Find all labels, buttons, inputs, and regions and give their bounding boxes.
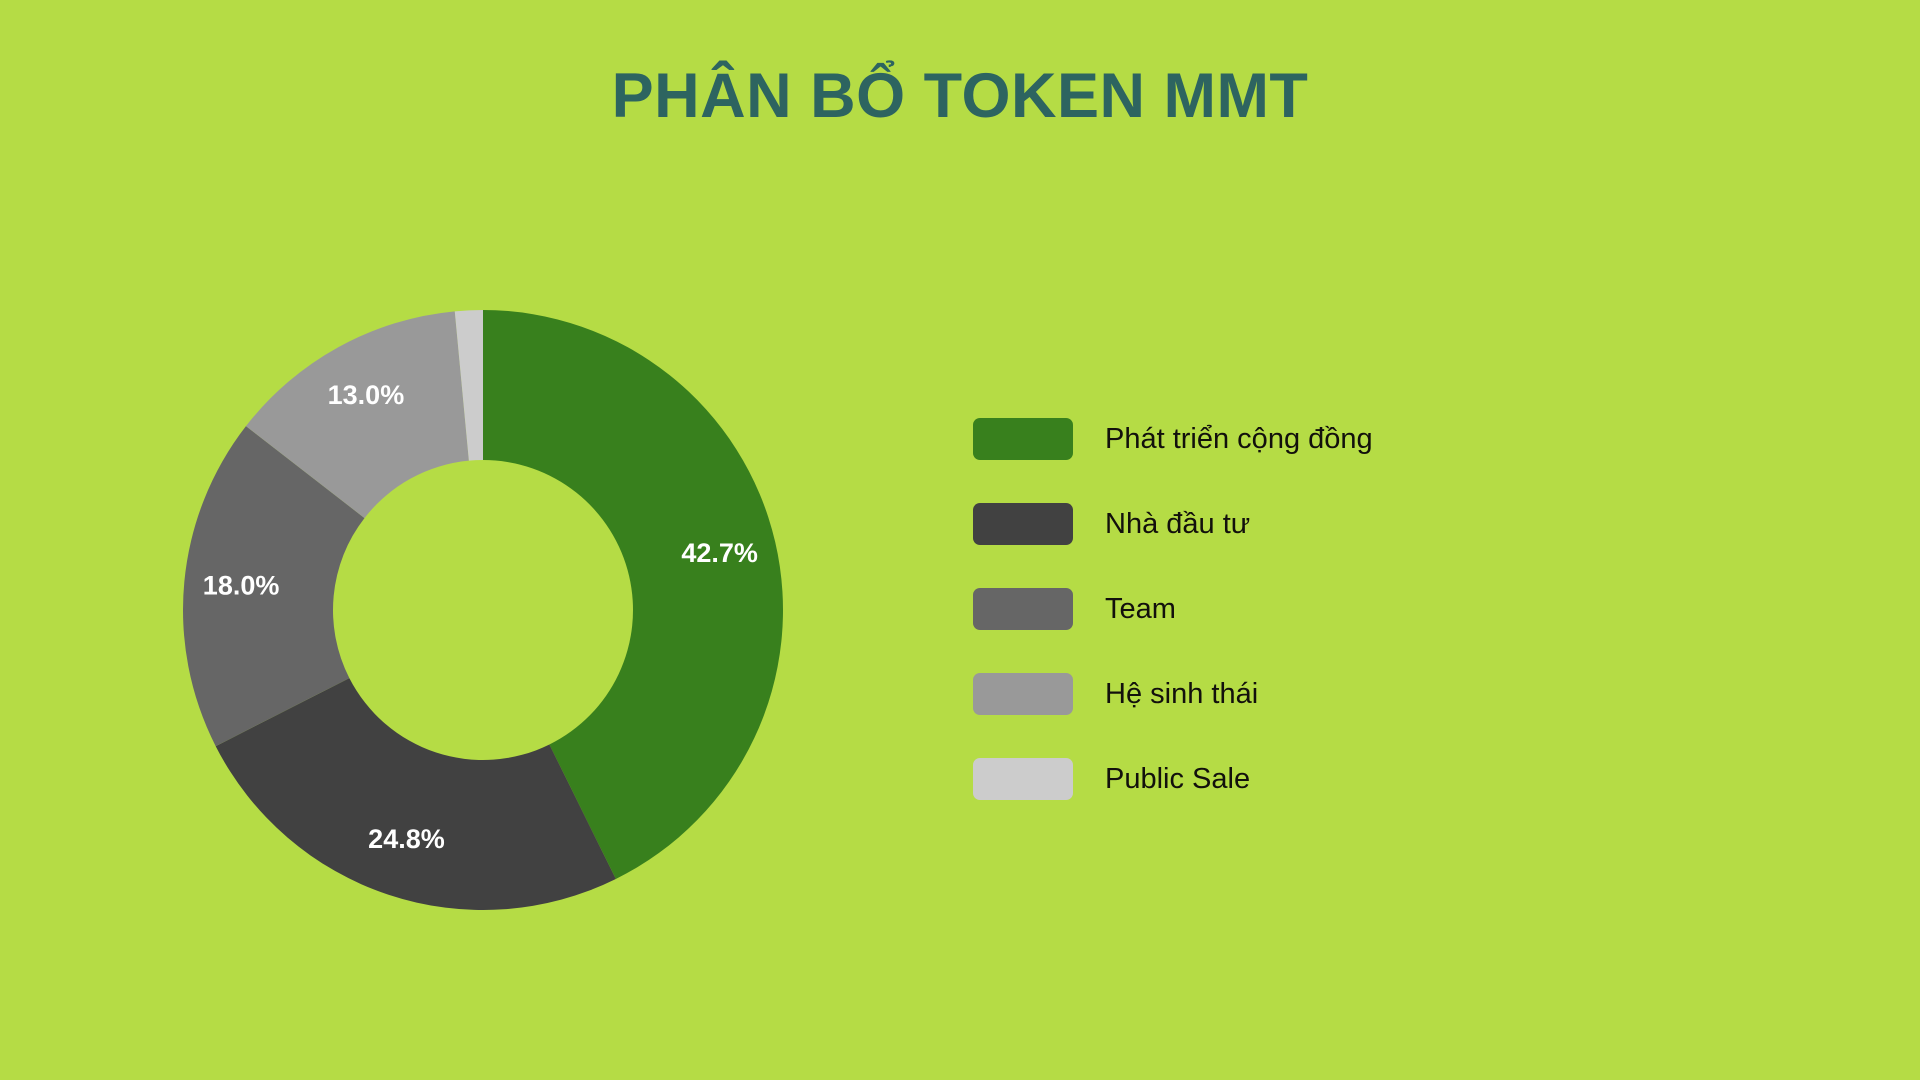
donut-slice-value-label: 18.0% bbox=[203, 570, 280, 600]
legend-item[interactable]: Phát triển cộng đồng bbox=[973, 418, 1673, 460]
page-title: PHÂN BỔ TOKEN MMT bbox=[0, 62, 1920, 131]
donut-slice-value-label: 42.7% bbox=[681, 538, 758, 568]
legend-item[interactable]: Nhà đầu tư bbox=[973, 503, 1673, 545]
legend-item-label: Nhà đầu tư bbox=[1105, 510, 1250, 539]
legend-item-label: Hệ sinh thái bbox=[1105, 680, 1258, 709]
legend-color-swatch bbox=[973, 418, 1073, 460]
slide-canvas: PHÂN BỔ TOKEN MMT 42.7%24.8%18.0%13.0% P… bbox=[0, 0, 1920, 1080]
donut-chart-svg: 42.7%24.8%18.0%13.0% bbox=[183, 310, 783, 910]
donut-slice-value-label: 24.8% bbox=[368, 824, 445, 854]
legend-item[interactable]: Team bbox=[973, 588, 1673, 630]
legend-color-swatch bbox=[973, 503, 1073, 545]
legend-color-swatch bbox=[973, 758, 1073, 800]
legend-item-label: Phát triển cộng đồng bbox=[1105, 425, 1373, 454]
legend-color-swatch bbox=[973, 673, 1073, 715]
donut-slice-group bbox=[183, 310, 783, 910]
legend-item[interactable]: Public Sale bbox=[973, 758, 1673, 800]
donut-chart: 42.7%24.8%18.0%13.0% bbox=[183, 310, 783, 910]
legend-item-label: Public Sale bbox=[1105, 765, 1250, 794]
legend-item-label: Team bbox=[1105, 595, 1176, 624]
donut-slice-value-label: 13.0% bbox=[328, 380, 405, 410]
legend-item[interactable]: Hệ sinh thái bbox=[973, 673, 1673, 715]
legend-color-swatch bbox=[973, 588, 1073, 630]
chart-legend: Phát triển cộng đồngNhà đầu tưTeamHệ sin… bbox=[973, 418, 1673, 800]
